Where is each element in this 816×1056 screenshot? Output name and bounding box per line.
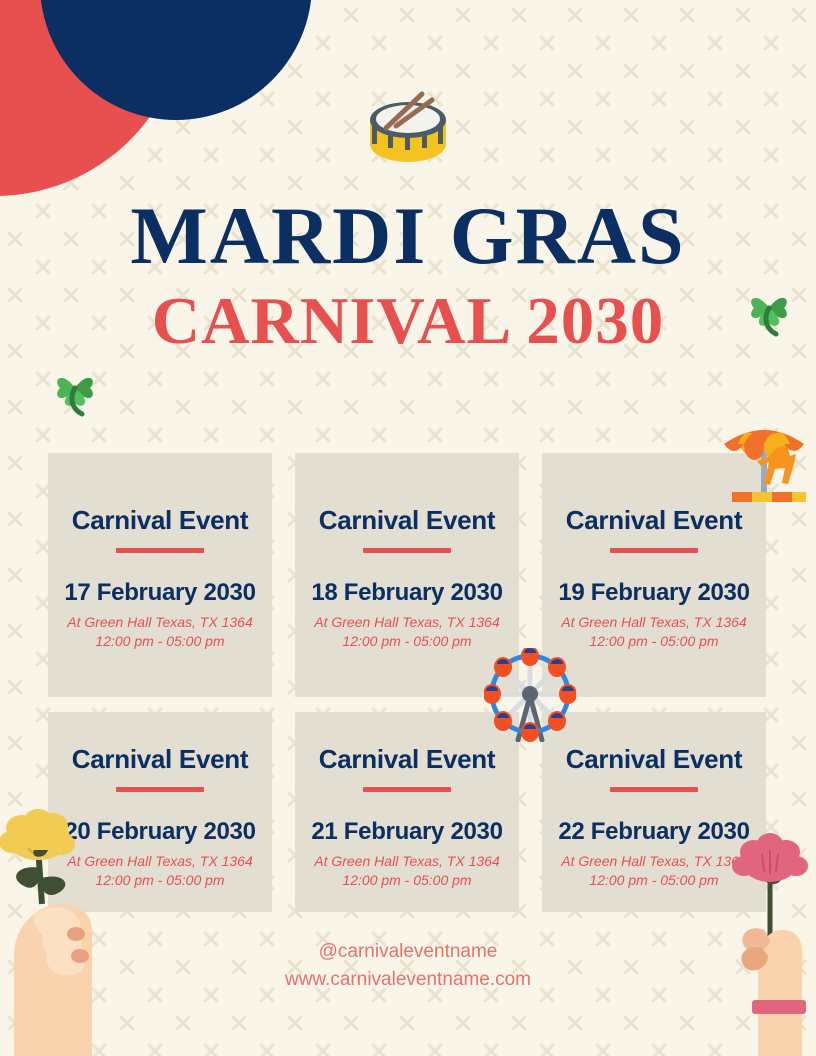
event-card-venue: At Green Hall Texas, TX 1364	[58, 614, 262, 630]
event-card-divider	[116, 787, 204, 792]
event-card-time: 12:00 pm - 05:00 pm	[552, 633, 756, 649]
event-card-date: 22 February 2030	[552, 818, 756, 846]
event-card-venue: At Green Hall Texas, TX 1364	[552, 614, 756, 630]
event-card-title: Carnival Event	[305, 744, 509, 775]
event-card-venue: At Green Hall Texas, TX 1364	[305, 853, 509, 869]
event-card-divider	[610, 787, 698, 792]
event-card-grid: Carnival Event 17 February 2030 At Green…	[48, 453, 768, 912]
footer-contact-block: @carnivaleventname www.carnivaleventname…	[0, 938, 816, 993]
poster-title-subtitle: CARNIVAL 2030	[0, 288, 816, 355]
event-card[interactable]: Carnival Event 20 February 2030 At Green…	[48, 712, 272, 912]
event-card-time: 12:00 pm - 05:00 pm	[58, 633, 262, 649]
event-card-date: 19 February 2030	[552, 579, 756, 607]
event-card-venue: At Green Hall Texas, TX 1364	[58, 853, 262, 869]
event-card-time: 12:00 pm - 05:00 pm	[58, 872, 262, 888]
event-card-divider	[363, 787, 451, 792]
event-card-title: Carnival Event	[58, 744, 262, 775]
poster-title-block: MARDI GRAS CARNIVAL 2030	[0, 196, 816, 355]
event-card-divider	[363, 548, 451, 553]
event-card-time: 12:00 pm - 05:00 pm	[305, 633, 509, 649]
event-card-date: 20 February 2030	[58, 818, 262, 846]
poster-canvas: MARDI GRAS CARNIVAL 2030 Carnival Event …	[0, 0, 816, 1056]
event-card-title: Carnival Event	[552, 505, 756, 536]
event-card[interactable]: Carnival Event 19 February 2030 At Green…	[542, 453, 766, 697]
event-card-venue: At Green Hall Texas, TX 1364	[305, 614, 509, 630]
event-card-divider	[610, 548, 698, 553]
event-card[interactable]: Carnival Event 17 February 2030 At Green…	[48, 453, 272, 697]
event-card-title: Carnival Event	[552, 744, 756, 775]
snare-drum-icon	[360, 82, 456, 174]
event-card-title: Carnival Event	[305, 505, 509, 536]
event-card[interactable]: Carnival Event 22 February 2030 At Green…	[542, 712, 766, 912]
website-url[interactable]: www.carnivaleventname.com	[0, 966, 816, 994]
event-card-divider	[116, 548, 204, 553]
event-card-time: 12:00 pm - 05:00 pm	[552, 872, 756, 888]
event-card-title: Carnival Event	[58, 505, 262, 536]
event-card[interactable]: Carnival Event 18 February 2030 At Green…	[295, 453, 519, 697]
four-leaf-clover-icon	[44, 358, 106, 420]
event-card[interactable]: Carnival Event 21 February 2030 At Green…	[295, 712, 519, 912]
event-card-date: 17 February 2030	[58, 579, 262, 607]
social-handle[interactable]: @carnivaleventname	[0, 938, 816, 966]
event-card-date: 21 February 2030	[305, 818, 509, 846]
event-card-date: 18 February 2030	[305, 579, 509, 607]
event-card-time: 12:00 pm - 05:00 pm	[305, 872, 509, 888]
poster-title-main: MARDI GRAS	[0, 196, 816, 276]
event-card-venue: At Green Hall Texas, TX 1364	[552, 853, 756, 869]
